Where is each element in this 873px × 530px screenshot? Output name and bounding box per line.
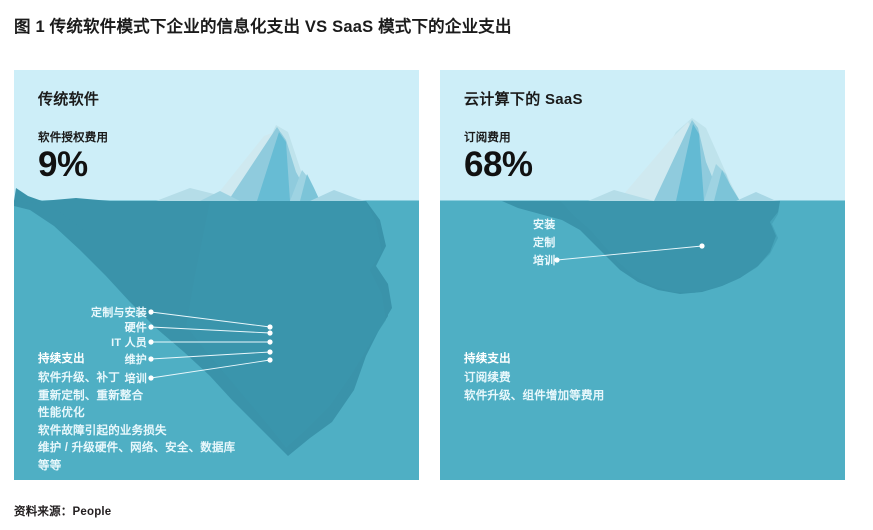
ongoing-costs-title: 持续支出	[38, 350, 235, 366]
ongoing-cost-item: 订阅续费	[464, 370, 604, 388]
ongoing-cost-item: 软件升级、组件增加等费用	[464, 388, 604, 406]
panel-cloud-saas: 云计算下的 SaaS 订阅费用 68% 安装 定制 培训 持续支出 订阅续费 软…	[440, 70, 845, 480]
callout-label-install[interactable]: 安装	[533, 216, 555, 232]
ongoing-costs-title: 持续支出	[464, 350, 604, 366]
panel-title: 云计算下的 SaaS	[464, 88, 583, 109]
source-note: 资料来源：People	[14, 503, 111, 519]
panel-traditional-software: 传统软件 软件授权费用 9% 定制与安装 硬件 IT 人员 维护 培训 持续支出…	[14, 70, 419, 480]
panel-header-saas: 云计算下的 SaaS 订阅费用 68%	[464, 88, 583, 184]
iceberg-shoulder-right	[736, 192, 780, 201]
ongoing-cost-item: 维护 / 升级硬件、网络、安全、数据库	[38, 440, 235, 458]
metric-value: 9%	[38, 146, 108, 184]
panel-title: 传统软件	[38, 88, 108, 109]
panel-header-traditional: 传统软件 软件授权费用 9%	[38, 88, 108, 184]
ongoing-costs-traditional: 持续支出 软件升级、补丁 重新定制、重新整合 性能优化 软件故障引起的业务损失 …	[38, 350, 235, 475]
ongoing-costs-saas: 持续支出 订阅续费 软件升级、组件增加等费用	[464, 350, 604, 405]
callout-label-it-staff[interactable]: IT 人员	[111, 334, 147, 350]
callout-label-customization[interactable]: 定制	[533, 234, 555, 250]
ongoing-cost-item: 性能优化	[38, 405, 235, 423]
ongoing-cost-item: 重新定制、重新整合	[38, 388, 235, 406]
iceberg-underwater-shade	[560, 201, 780, 293]
metric-value: 68%	[464, 146, 583, 184]
iceberg-shoulder-right	[310, 190, 366, 201]
callout-label-training[interactable]: 培训	[533, 252, 555, 268]
metric-label: 软件授权费用	[38, 129, 108, 145]
callout-label-custom-install[interactable]: 定制与安装	[91, 304, 147, 320]
infographic-root: 图 1 传统软件模式下企业的信息化支出 VS SaaS 模式下的企业支出	[0, 0, 873, 530]
ongoing-cost-item: 等等	[38, 458, 235, 476]
callout-label-hardware[interactable]: 硬件	[125, 319, 147, 335]
ongoing-cost-item: 软件升级、补丁	[38, 370, 235, 388]
ongoing-cost-item: 软件故障引起的业务损失	[38, 423, 235, 441]
metric-label: 订阅费用	[464, 129, 583, 145]
page-title: 图 1 传统软件模式下企业的信息化支出 VS SaaS 模式下的企业支出	[14, 13, 512, 37]
